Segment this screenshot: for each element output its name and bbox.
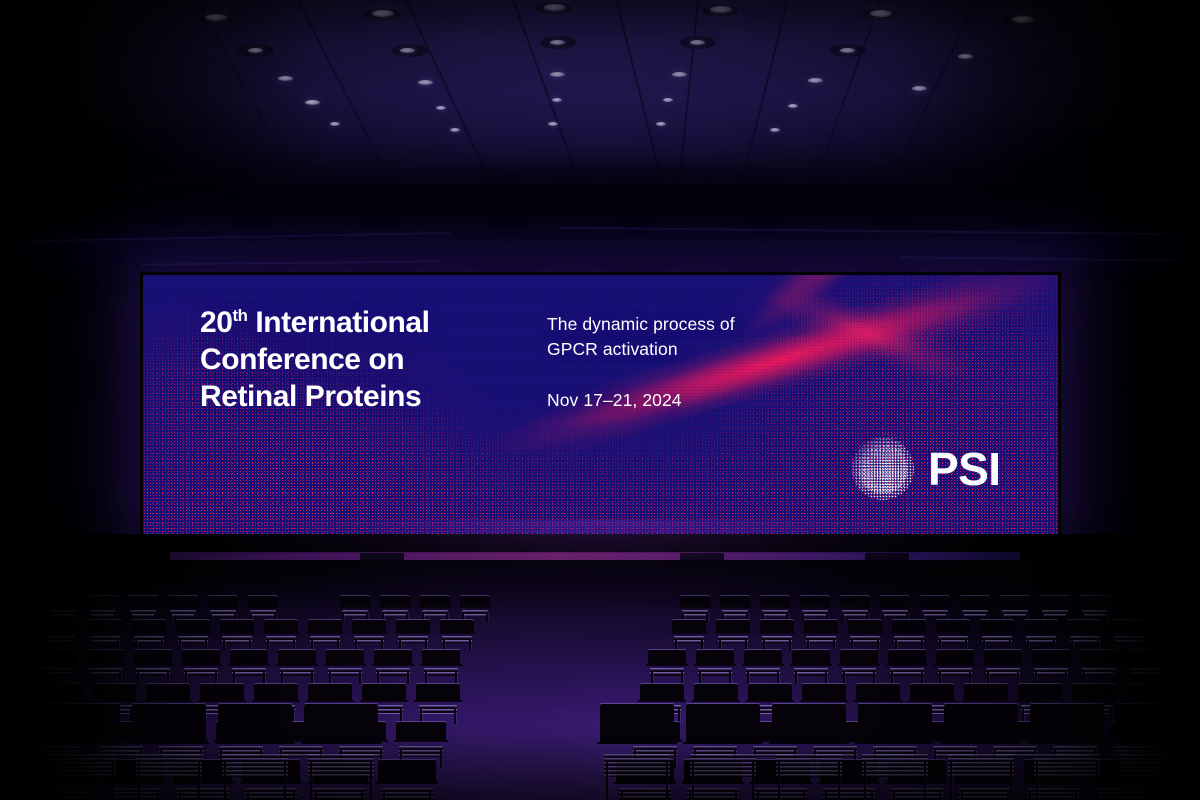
- subtitle-line-2: GPCR activation: [547, 339, 678, 359]
- psi-logo: PSI: [852, 438, 1001, 500]
- banner-content: 20th International Conference on Retinal…: [143, 275, 1058, 535]
- ordinal-suffix: th: [232, 306, 247, 325]
- psi-wordmark: PSI: [928, 446, 1001, 492]
- subtitle-line-1: The dynamic process of: [547, 314, 735, 334]
- auditorium-scene: 20th International Conference on Retinal…: [0, 0, 1200, 800]
- led-banner-screen: 20th International Conference on Retinal…: [143, 275, 1058, 535]
- title-line-2: Conference on: [200, 343, 404, 376]
- particle-sphere-icon: [852, 438, 914, 500]
- ceiling: [0, 0, 1200, 240]
- title-line-3: Retinal Proteins: [200, 380, 421, 413]
- conference-subtitle: The dynamic process of GPCR activation: [547, 312, 735, 362]
- title-line-1: 20th International: [200, 306, 430, 339]
- floor-vignette: [0, 560, 1200, 800]
- conference-title: 20th International Conference on Retinal…: [200, 305, 430, 416]
- ceiling-vignette: [0, 0, 1200, 240]
- conference-dates: Nov 17–21, 2024: [547, 390, 682, 411]
